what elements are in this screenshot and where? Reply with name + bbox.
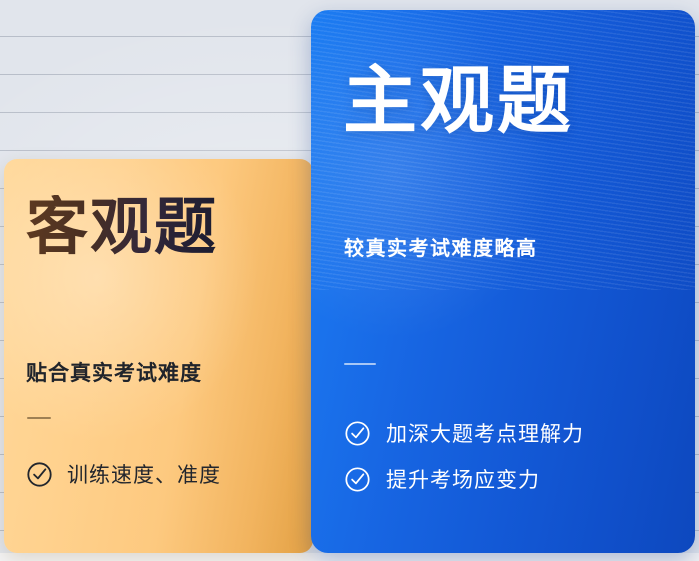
list-item: 提升考场应变力 — [344, 464, 684, 494]
subjective-card-subtitle: 较真实考试难度略高 — [344, 232, 538, 261]
check-circle-icon — [344, 466, 371, 493]
list-item: 加深大题考点理解力 — [344, 418, 684, 448]
promo-card-stage: 客观题 贴合真实考试难度 训练速度、准度 主观题 较真实考试难度略高 — [0, 0, 699, 561]
objective-card-bullet-list: 训练速度、准度 — [26, 459, 296, 489]
background-bottom-strip — [0, 553, 699, 561]
objective-card-title: 客观题 — [26, 195, 218, 261]
list-item-label: 提升考场应变力 — [386, 464, 540, 494]
list-item-label: 训练速度、准度 — [67, 459, 221, 489]
objective-card[interactable]: 客观题 贴合真实考试难度 训练速度、准度 — [4, 159, 313, 553]
subjective-card-bullet-list: 加深大题考点理解力 提升考场应变力 — [344, 418, 684, 510]
list-item-label: 加深大题考点理解力 — [386, 418, 584, 448]
objective-card-subtitle: 贴合真实考试难度 — [26, 357, 202, 387]
list-item: 训练速度、准度 — [26, 459, 296, 489]
check-circle-icon — [26, 461, 53, 488]
subjective-card-title: 主观题 — [343, 62, 574, 140]
objective-card-divider — [27, 417, 51, 419]
check-circle-icon — [344, 420, 371, 447]
subjective-card-divider — [344, 363, 376, 365]
subjective-card[interactable]: 主观题 较真实考试难度略高 加深大题考点理解力 提升考场应变力 — [311, 10, 695, 553]
